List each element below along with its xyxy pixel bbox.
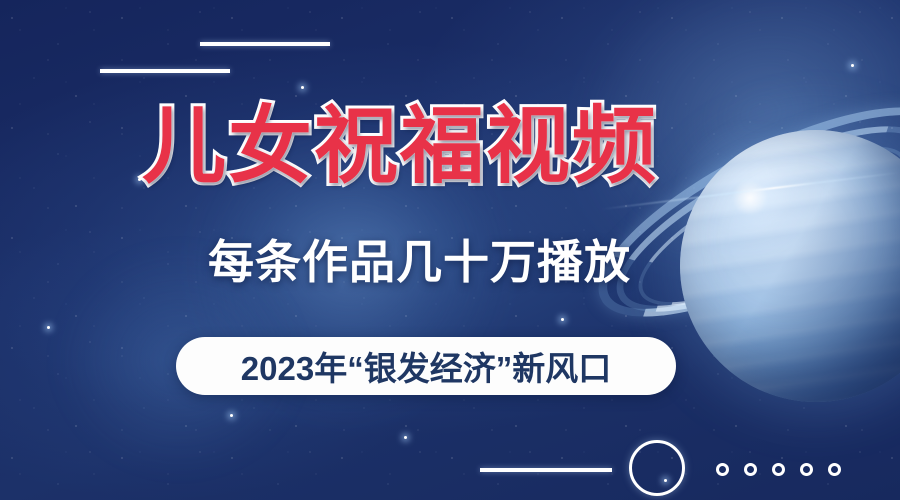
main-title: 儿女祝福视频 (142, 104, 658, 188)
tagline-pill: 2023年“银发经济”新风口 (176, 337, 676, 395)
subtitle: 每条作品几十万播放 (208, 239, 631, 285)
copy-block: 儿女祝福视频 每条作品几十万播放 2023年“银发经济”新风口 (0, 0, 900, 500)
tagline-text: 2023年“银发经济”新风口 (241, 342, 611, 390)
promo-banner: 儿女祝福视频 每条作品几十万播放 2023年“银发经济”新风口 (0, 0, 900, 500)
